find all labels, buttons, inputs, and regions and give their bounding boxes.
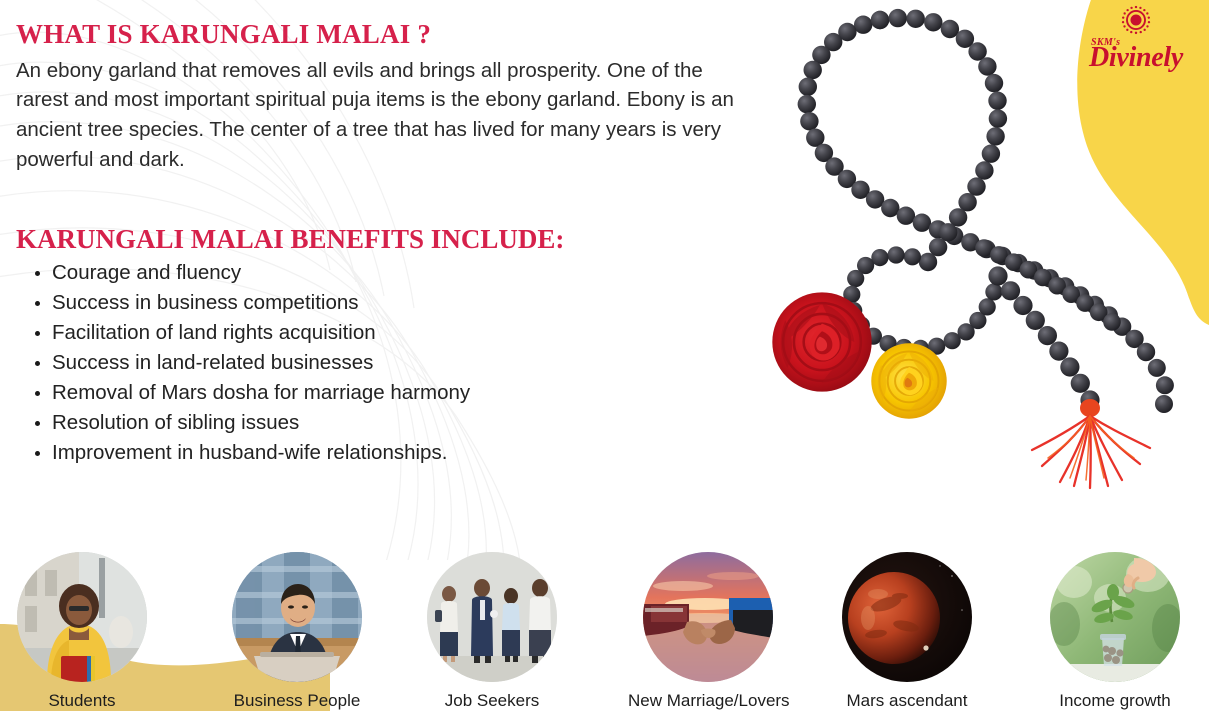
benefit-item: Success in business competitions bbox=[52, 288, 772, 318]
persona-label: Business People bbox=[217, 692, 377, 711]
businessman-with-laptop-photo bbox=[232, 552, 362, 682]
coin-plant-jar-photo bbox=[1050, 552, 1180, 682]
brand-logo: SKM's Divinely bbox=[1077, 4, 1195, 72]
holding-hands-sunset-photo bbox=[643, 552, 773, 682]
people-queue-photo bbox=[427, 552, 557, 682]
persona-label: Students bbox=[2, 692, 162, 711]
benefits-list: Courage and fluency Success in business … bbox=[16, 258, 772, 468]
persona-label: Income growth bbox=[1035, 692, 1195, 711]
benefit-item: Success in land-related businesses bbox=[52, 348, 772, 378]
persona-business-people[interactable]: Business People bbox=[217, 552, 377, 711]
persona-label: Job Seekers bbox=[412, 692, 572, 711]
intro-block: WHAT IS KARUNGALI MALAI ? An ebony garla… bbox=[16, 20, 756, 175]
persona-mars-ascendant[interactable]: Mars ascendant bbox=[827, 552, 987, 711]
mars-planet-photo bbox=[842, 552, 972, 682]
persona-job-seekers[interactable]: Job Seekers bbox=[412, 552, 572, 711]
persona-label: New Marriage/Lovers bbox=[628, 692, 788, 711]
page-title: WHAT IS KARUNGALI MALAI ? bbox=[16, 20, 756, 50]
persona-new-marriage-lovers[interactable]: New Marriage/Lovers bbox=[628, 552, 788, 711]
poster-canvas: WHAT IS KARUNGALI MALAI ? An ebony garla… bbox=[0, 0, 1209, 711]
brand-name: Divinely bbox=[1077, 44, 1195, 72]
benefit-item: Courage and fluency bbox=[52, 258, 772, 288]
benefit-item: Improvement in husband-wife relationship… bbox=[52, 438, 772, 468]
intro-paragraph: An ebony garland that removes all evils … bbox=[16, 56, 756, 175]
persona-students[interactable]: Students bbox=[2, 552, 162, 711]
red-tassel-icon bbox=[1032, 399, 1150, 488]
karungali-mala-illustration bbox=[760, 0, 1209, 500]
persona-income-growth[interactable]: Income growth bbox=[1035, 552, 1195, 711]
student-with-books-photo bbox=[17, 552, 147, 682]
persona-label: Mars ascendant bbox=[827, 692, 987, 711]
sun-mandala-icon bbox=[1114, 4, 1158, 36]
red-rose-icon bbox=[768, 288, 876, 396]
benefit-item: Facilitation of land rights acquisition bbox=[52, 318, 772, 348]
benefit-item: Removal of Mars dosha for marriage harmo… bbox=[52, 378, 772, 408]
yellow-rose-icon bbox=[868, 340, 950, 422]
persona-row: Students bbox=[0, 531, 1209, 711]
benefit-item: Resolution of sibling issues bbox=[52, 408, 772, 438]
benefits-heading: KARUNGALI MALAI BENEFITS INCLUDE: bbox=[16, 225, 564, 255]
